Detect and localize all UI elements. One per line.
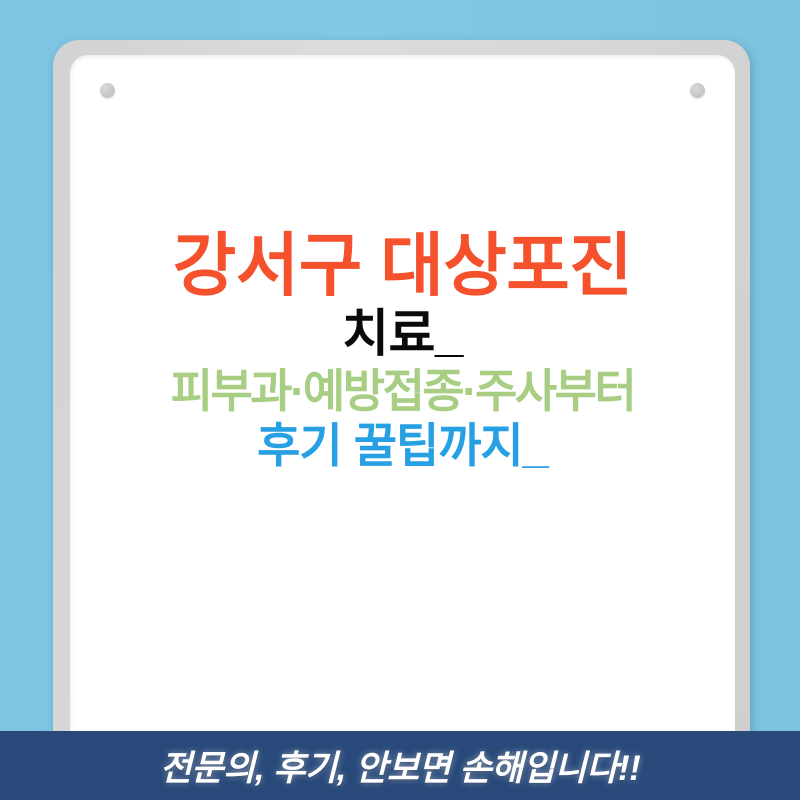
- headline-services: 피부과·예방접종·주사부터: [48, 365, 757, 418]
- rivet-screw-icon: [100, 83, 115, 98]
- banner-tagline: 전문의, 후기, 안보면 손해입니다!!: [160, 740, 641, 791]
- white-board: 강서구 대상포진 치료_ 피부과·예방접종·주사부터 후기 꿀팁까지_: [70, 55, 735, 745]
- headline-title: 강서구 대상포진: [48, 231, 757, 301]
- bottom-banner: 전문의, 후기, 안보면 손해입니다!!: [0, 731, 800, 800]
- rivet-screw-icon: [690, 83, 705, 98]
- poster-canvas: 강서구 대상포진 치료_ 피부과·예방접종·주사부터 후기 꿀팁까지_ 전문의,…: [0, 0, 800, 800]
- headline-reviews: 후기 꿀팁까지_: [48, 420, 757, 473]
- plaque-frame: 강서구 대상포진 치료_ 피부과·예방접종·주사부터 후기 꿀팁까지_: [53, 40, 750, 740]
- headline-treatment: 치료_: [48, 307, 757, 361]
- headline-block: 강서구 대상포진 치료_ 피부과·예방접종·주사부터 후기 꿀팁까지_: [48, 231, 757, 472]
